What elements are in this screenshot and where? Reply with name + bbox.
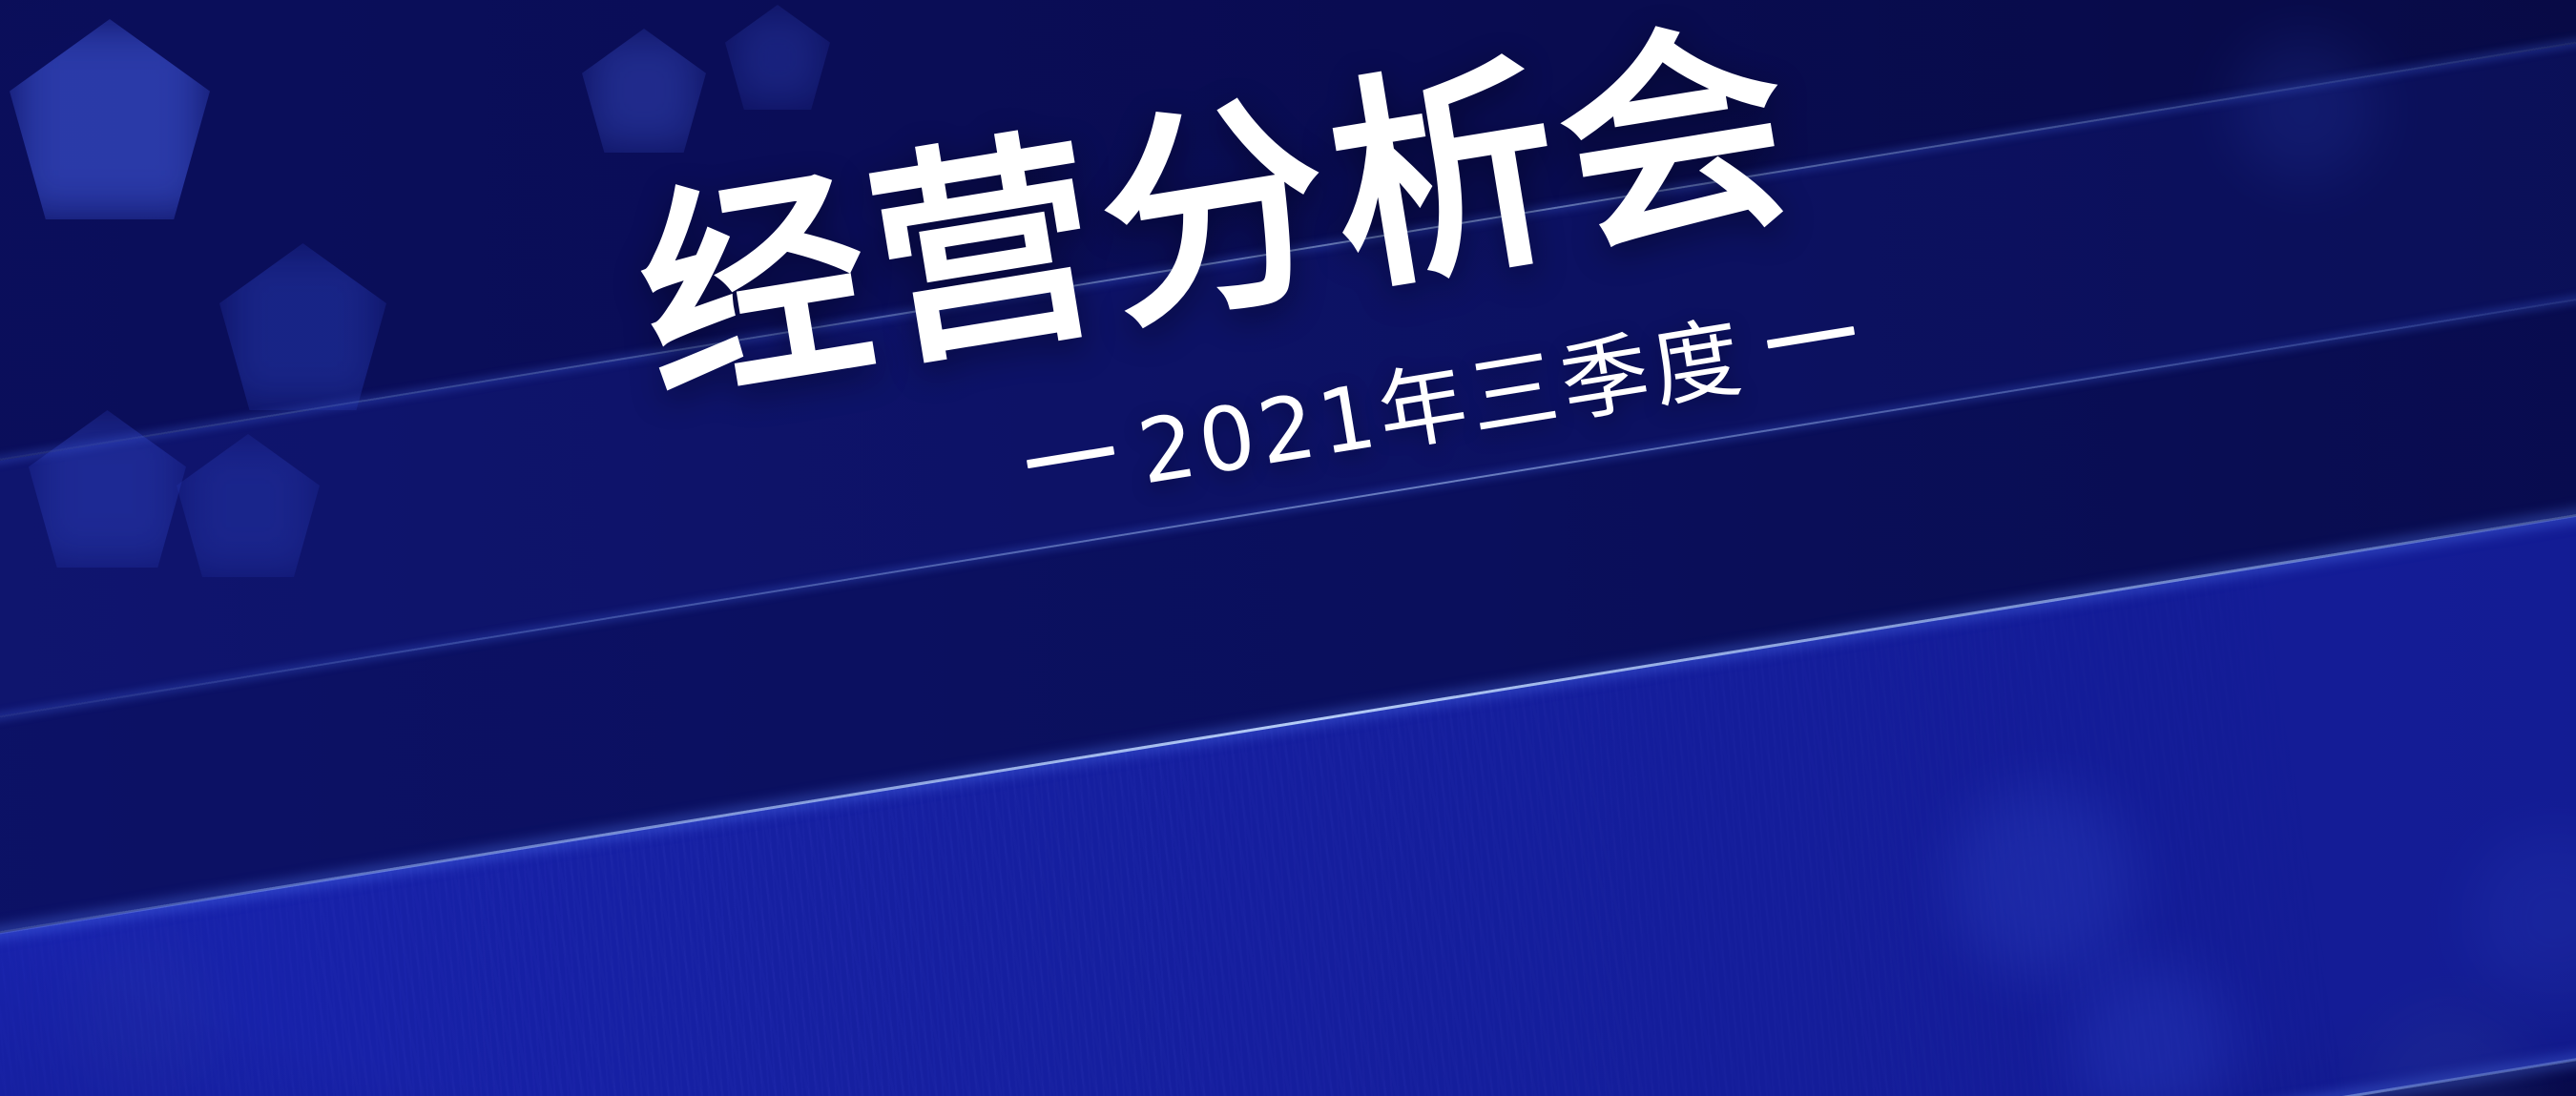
diagonal-band-group xyxy=(0,0,2576,1096)
poster-canvas: 经营分析会 2021年三季度 xyxy=(0,0,2576,1096)
